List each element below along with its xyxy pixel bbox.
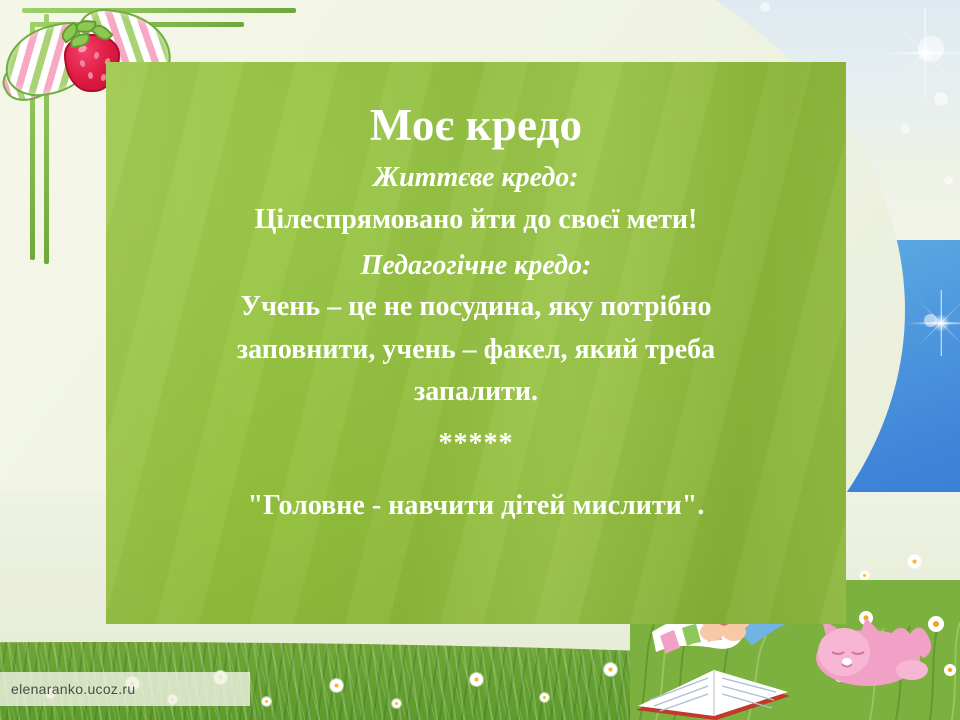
daisy-flower bbox=[392, 699, 401, 708]
pedagogical-credo-label: Педагогічне кредо: bbox=[132, 246, 820, 287]
credo-panel: Моє кредо Життєве кредо: Цілеспрямовано … bbox=[106, 62, 846, 624]
pedagogical-credo-line-3: запалити. bbox=[132, 371, 820, 414]
closing-quote: "Головне - навчити дітей мислити". bbox=[132, 485, 820, 527]
daisy-flower bbox=[262, 697, 271, 706]
life-credo-label: Життєве кредо: bbox=[132, 158, 820, 199]
daisy-flower bbox=[540, 693, 549, 702]
watermark-text: elenaranko.ucoz.ru bbox=[8, 680, 138, 698]
pedagogical-credo-line-1: Учень – це не посудина, яку потрібно bbox=[132, 286, 820, 329]
life-credo-text: Цілеспрямовано йти до своєї мети! bbox=[132, 199, 820, 242]
separator-asterisks: ***** bbox=[132, 420, 820, 468]
page-title: Моє кредо bbox=[132, 100, 820, 150]
slide-canvas: Моє кредо Життєве кредо: Цілеспрямовано … bbox=[0, 0, 960, 720]
daisy-flower bbox=[604, 663, 617, 676]
pedagogical-credo-line-2: заповнити, учень – факел, який треба bbox=[132, 329, 820, 372]
daisy-flower bbox=[330, 679, 343, 692]
daisy-flower bbox=[470, 673, 483, 686]
